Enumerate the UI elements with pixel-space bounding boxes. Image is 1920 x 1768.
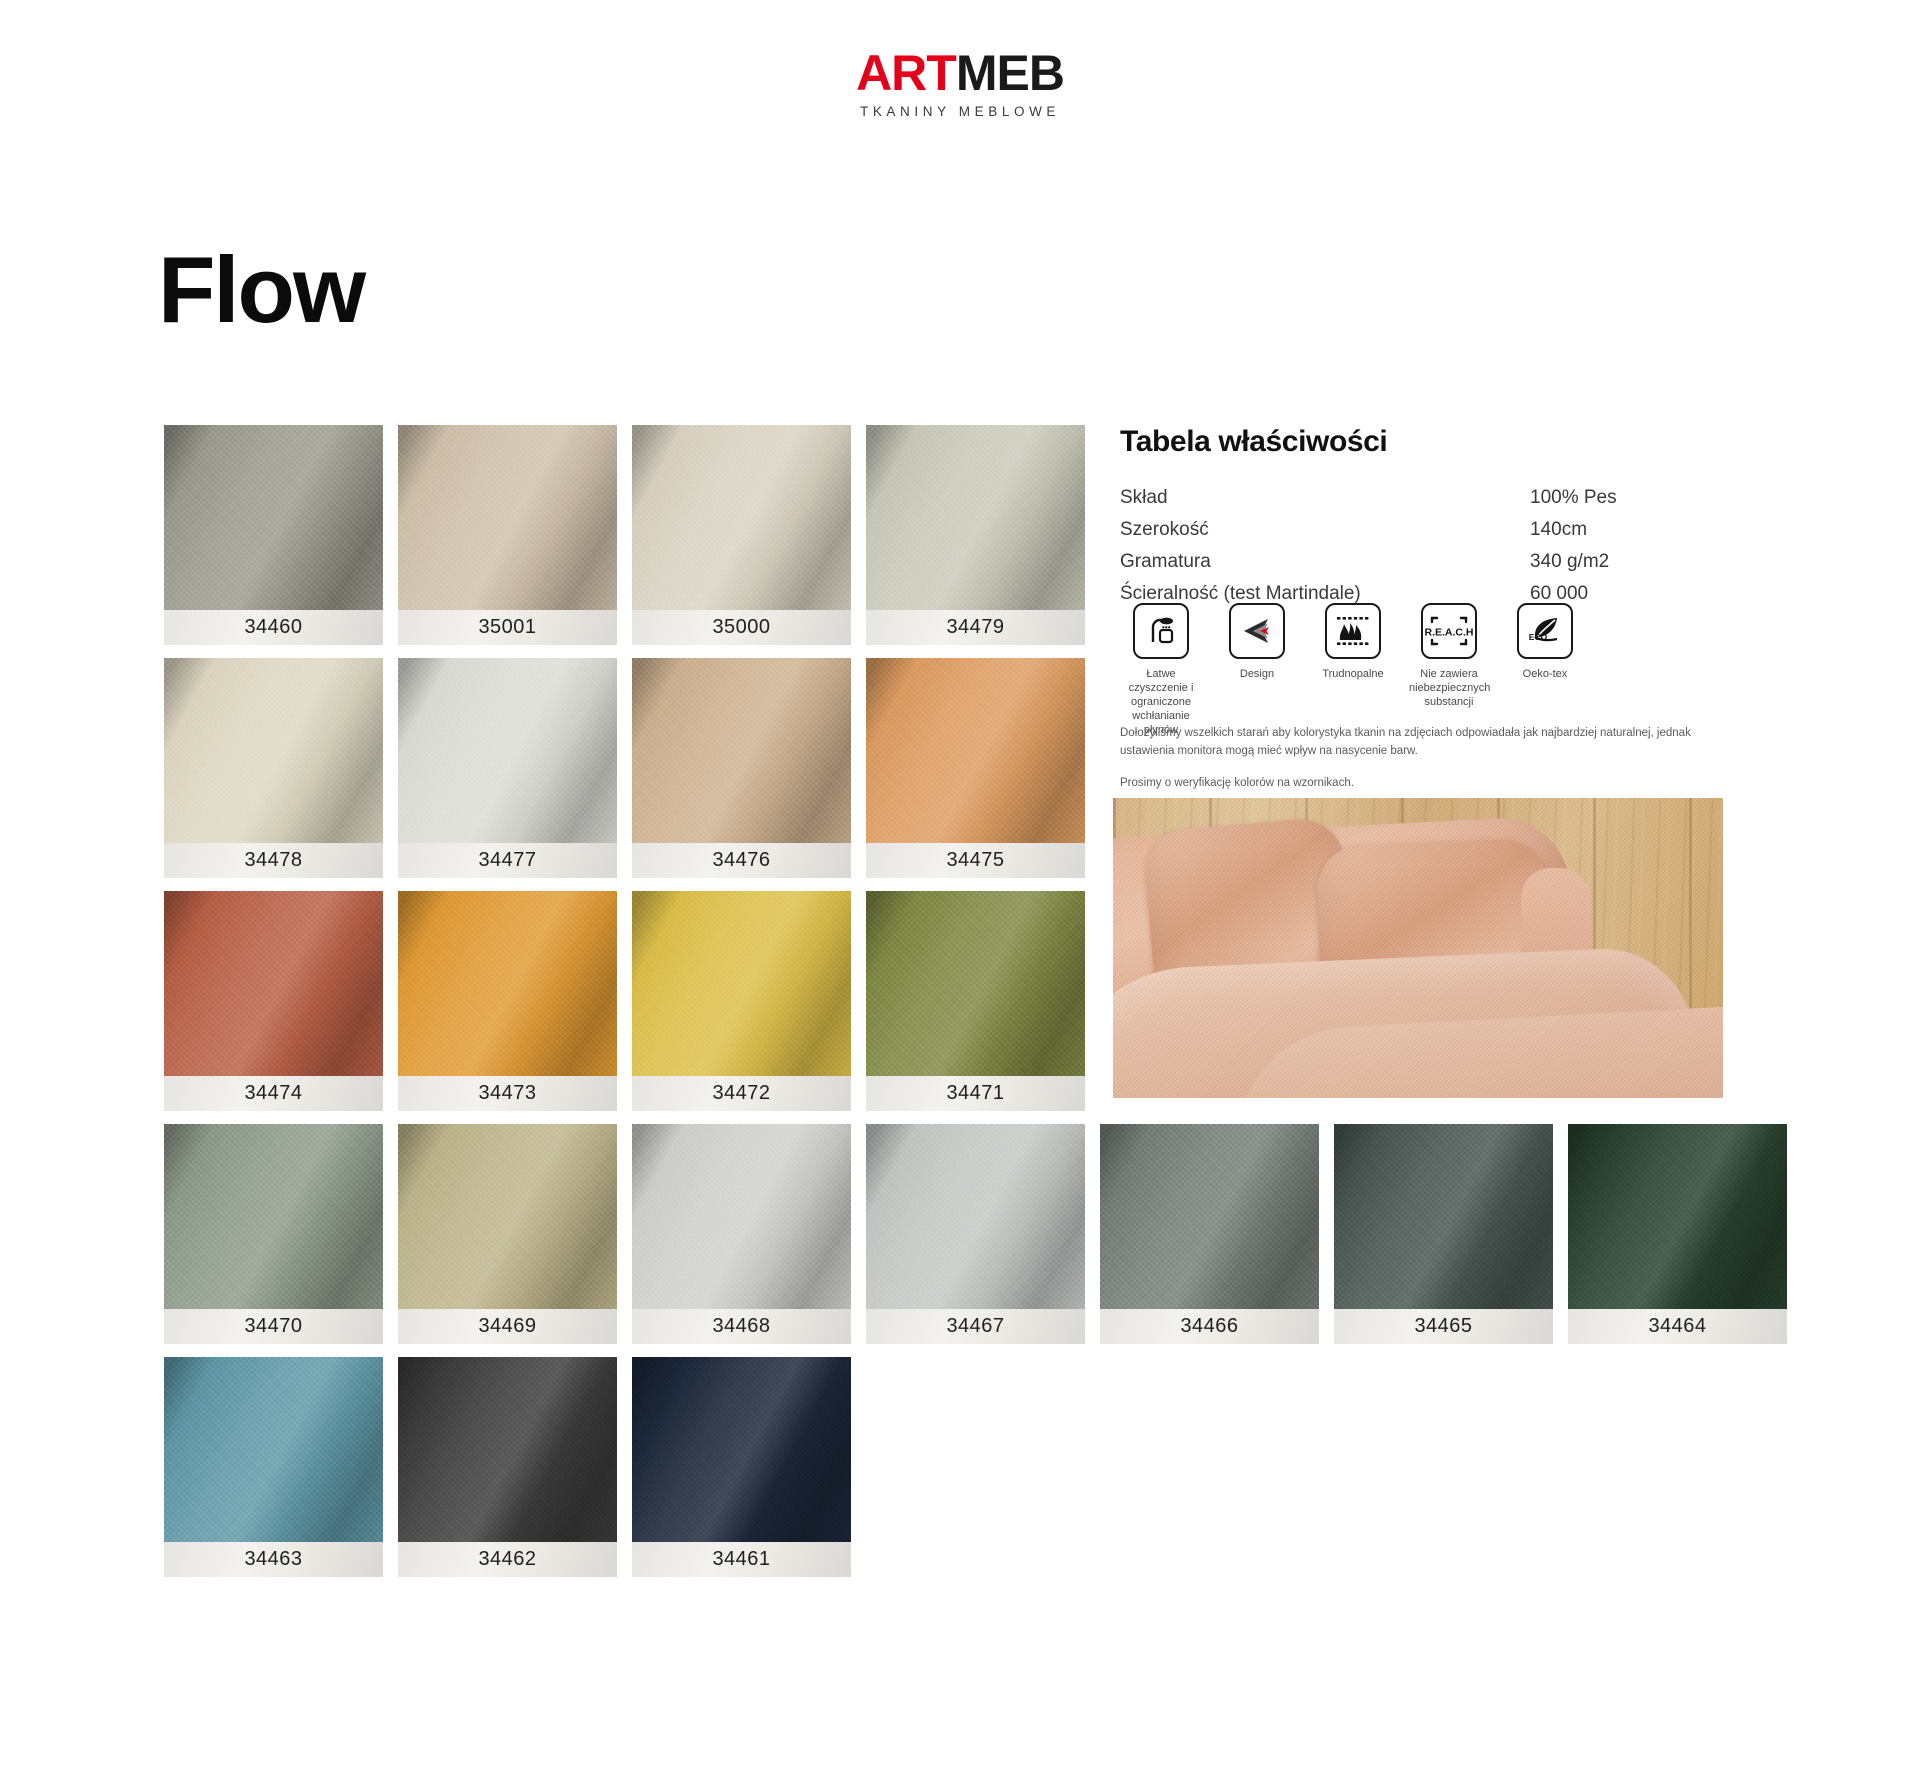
swatch-code-label: 34469 — [398, 1309, 617, 1344]
swatch-weave-texture — [164, 1124, 383, 1309]
property-value: 140cm — [1530, 517, 1740, 549]
logo-wordmark: ARTMEB — [856, 48, 1064, 98]
fabric-swatch-image — [632, 425, 851, 610]
design-icon — [1229, 603, 1285, 659]
sofa-photo — [1113, 798, 1723, 1098]
fabric-swatch-image — [398, 1124, 617, 1309]
property-row: Szerokość140cm — [1120, 517, 1740, 549]
swatch-code-label: 34462 — [398, 1542, 617, 1577]
swatch-code-label: 34478 — [164, 843, 383, 878]
fabric-swatch-image — [632, 891, 851, 1076]
swatch-code-text: 34468 — [712, 1315, 770, 1338]
swatch-code-text: 34462 — [478, 1548, 536, 1571]
fabric-swatch-image — [1568, 1124, 1787, 1309]
fabric-swatch-image — [398, 425, 617, 610]
fabric-swatch[interactable]: 34466 — [1100, 1124, 1319, 1344]
swatch-code-text: 34465 — [1414, 1315, 1472, 1338]
swatch-code-label: 34468 — [632, 1309, 851, 1344]
cert-caption: Design — [1217, 667, 1297, 681]
property-value: 340 g/m2 — [1530, 549, 1740, 581]
swatch-weave-texture — [866, 658, 1085, 843]
property-row: Skład100% Pes — [1120, 485, 1740, 517]
swatch-code-label: 34477 — [398, 843, 617, 878]
swatch-weave-texture — [632, 891, 851, 1076]
fabric-swatch[interactable]: 34475 — [866, 658, 1085, 878]
swatch-code-label: 34472 — [632, 1076, 851, 1111]
fabric-swatch-image — [866, 425, 1085, 610]
swatch-code-label: 34475 — [866, 843, 1085, 878]
fabric-swatch-image — [164, 1357, 383, 1542]
disclaimer-paragraph-1: Dołożyliśmy wszelkich starań aby kolorys… — [1120, 725, 1740, 761]
cert-caption: Oeko-tex — [1505, 667, 1585, 681]
properties-title: Tabela właściwości — [1120, 425, 1740, 459]
swatch-weave-texture — [164, 1357, 383, 1542]
swatch-weave-texture — [866, 891, 1085, 1076]
swatch-weave-texture — [632, 658, 851, 843]
swatch-row: 344633446234461 — [164, 1357, 1724, 1577]
property-label: Skład — [1120, 485, 1530, 517]
cert-item-easy-clean: Łatwe czyszczenie i ograniczone wchłania… — [1124, 603, 1198, 737]
swatch-code-label: 35001 — [398, 610, 617, 645]
swatch-code-text: 34474 — [244, 1082, 302, 1105]
swatch-code-label: 34474 — [164, 1076, 383, 1111]
fabric-swatch-image — [164, 1124, 383, 1309]
fabric-swatch-image — [1334, 1124, 1553, 1309]
fabric-swatch[interactable]: 34471 — [866, 891, 1085, 1111]
swatch-code-label: 34465 — [1334, 1309, 1553, 1344]
fabric-swatch-image — [398, 891, 617, 1076]
fabric-swatch-image — [632, 1357, 851, 1542]
swatch-code-text: 34470 — [244, 1315, 302, 1338]
fabric-swatch[interactable]: 34469 — [398, 1124, 617, 1344]
fabric-swatch[interactable]: 34463 — [164, 1357, 383, 1577]
swatch-code-label: 34479 — [866, 610, 1085, 645]
swatch-code-text: 35000 — [712, 616, 770, 639]
swatch-weave-texture — [632, 1357, 851, 1542]
fabric-swatch-image — [164, 891, 383, 1076]
fabric-swatch[interactable]: 34478 — [164, 658, 383, 878]
fabric-swatch[interactable]: 34472 — [632, 891, 851, 1111]
swatch-weave-texture — [398, 425, 617, 610]
swatch-weave-texture — [632, 1124, 851, 1309]
page-title: Flow — [158, 243, 364, 337]
properties-panel: Tabela właściwości Skład100% PesSzerokoś… — [1120, 425, 1740, 613]
fabric-swatch-image — [866, 891, 1085, 1076]
fabric-swatch[interactable]: 34479 — [866, 425, 1085, 645]
property-label: Szerokość — [1120, 517, 1530, 549]
swatch-row: 34470344693446834467344663446534464 — [164, 1124, 1724, 1344]
swatch-code-label: 34476 — [632, 843, 851, 878]
fabric-swatch[interactable]: 34465 — [1334, 1124, 1553, 1344]
fabric-swatch-image — [164, 425, 383, 610]
swatch-code-label: 34473 — [398, 1076, 617, 1111]
swatch-code-text: 34478 — [244, 849, 302, 872]
swatch-code-label: 34467 — [866, 1309, 1085, 1344]
property-value: 100% Pes — [1530, 485, 1740, 517]
swatch-code-label: 34470 — [164, 1309, 383, 1344]
swatch-code-text: 34461 — [712, 1548, 770, 1571]
fabric-collection-page: ARTMEB TKANINY MEBLOWE Flow 344603500135… — [0, 0, 1920, 1768]
swatch-weave-texture — [398, 1357, 617, 1542]
fabric-swatch[interactable]: 34468 — [632, 1124, 851, 1344]
cert-item-reach: R.E.A.C.H Nie zawiera niebezpiecznych su… — [1412, 603, 1486, 737]
fabric-swatch[interactable]: 34467 — [866, 1124, 1085, 1344]
cert-item-flame-retardant: Trudnopalne — [1316, 603, 1390, 737]
oeko-tex-icon: ECO — [1517, 603, 1573, 659]
fabric-swatch[interactable]: 34476 — [632, 658, 851, 878]
svg-text:ECO: ECO — [1529, 632, 1548, 642]
cert-caption: Trudnopalne — [1313, 667, 1393, 681]
logo-tagline: TKANINY MEBLOWE — [860, 104, 1060, 119]
swatch-weave-texture — [164, 658, 383, 843]
swatch-code-text: 34479 — [946, 616, 1004, 639]
easy-clean-icon — [1133, 603, 1189, 659]
swatch-code-text: 35001 — [478, 616, 536, 639]
cert-caption: Nie zawiera niebezpiecznych substancji — [1409, 667, 1489, 709]
swatch-code-label: 34460 — [164, 610, 383, 645]
fabric-swatch-image — [398, 658, 617, 843]
swatch-weave-texture — [1100, 1124, 1319, 1309]
fabric-swatch-image — [866, 1124, 1085, 1309]
fabric-swatch-image — [398, 1357, 617, 1542]
swatch-weave-texture — [164, 425, 383, 610]
swatch-code-label: 34463 — [164, 1542, 383, 1577]
fabric-swatch[interactable]: 34460 — [164, 425, 383, 645]
fabric-swatch[interactable]: 34462 — [398, 1357, 617, 1577]
fabric-swatch-image — [1100, 1124, 1319, 1309]
swatch-code-text: 34473 — [478, 1082, 536, 1105]
properties-table: Skład100% PesSzerokość140cmGramatura340 … — [1120, 485, 1740, 613]
brand-logo: ARTMEB TKANINY MEBLOWE — [0, 48, 1920, 119]
property-row: Gramatura340 g/m2 — [1120, 549, 1740, 581]
swatch-weave-texture — [398, 1124, 617, 1309]
swatch-code-label: 34464 — [1568, 1309, 1787, 1344]
swatch-code-text: 34466 — [1180, 1315, 1238, 1338]
fabric-swatch-image — [632, 1124, 851, 1309]
fabric-swatch-image — [164, 658, 383, 843]
swatch-code-text: 34460 — [244, 616, 302, 639]
certification-icons: Łatwe czyszczenie i ograniczone wchłania… — [1124, 603, 1582, 737]
swatch-weave-texture — [632, 425, 851, 610]
fabric-swatch-image — [866, 658, 1085, 843]
swatch-code-text: 34472 — [712, 1082, 770, 1105]
fabric-swatch-image — [632, 658, 851, 843]
logo-art-text: ART — [856, 45, 956, 101]
svg-text:R.E.A.C.H: R.E.A.C.H — [1424, 627, 1473, 639]
swatch-code-text: 34476 — [712, 849, 770, 872]
fabric-swatch[interactable]: 34473 — [398, 891, 617, 1111]
disclaimer-paragraph-2: Prosimy o weryfikację kolorów na wzornik… — [1120, 775, 1740, 793]
swatch-code-label: 34471 — [866, 1076, 1085, 1111]
swatch-code-text: 34471 — [946, 1082, 1004, 1105]
fabric-swatch[interactable]: 34474 — [164, 891, 383, 1111]
fabric-swatch[interactable]: 35000 — [632, 425, 851, 645]
swatch-code-text: 34464 — [1648, 1315, 1706, 1338]
swatch-code-text: 34467 — [946, 1315, 1004, 1338]
property-label: Gramatura — [1120, 549, 1530, 581]
fabric-swatch[interactable]: 35001 — [398, 425, 617, 645]
swatch-code-label: 35000 — [632, 610, 851, 645]
swatch-weave-texture — [164, 891, 383, 1076]
cert-item-design: Design — [1220, 603, 1294, 737]
swatch-code-text: 34469 — [478, 1315, 536, 1338]
swatch-weave-texture — [1568, 1124, 1787, 1309]
swatch-code-text: 34463 — [244, 1548, 302, 1571]
fabric-swatch[interactable]: 34477 — [398, 658, 617, 878]
cert-item-oeko-tex: ECO Oeko-tex — [1508, 603, 1582, 737]
swatch-code-label: 34461 — [632, 1542, 851, 1577]
flame-retardant-icon — [1325, 603, 1381, 659]
swatch-weave-texture — [866, 425, 1085, 610]
swatch-code-label: 34466 — [1100, 1309, 1319, 1344]
swatch-weave-texture — [1334, 1124, 1553, 1309]
swatch-code-text: 34477 — [478, 849, 536, 872]
fabric-swatch[interactable]: 34464 — [1568, 1124, 1787, 1344]
color-disclaimer: Dołożyliśmy wszelkich starań aby kolorys… — [1120, 725, 1740, 806]
fabric-swatch[interactable]: 34461 — [632, 1357, 851, 1577]
swatch-weave-texture — [398, 658, 617, 843]
logo-meb-text: MEB — [956, 45, 1064, 101]
swatch-code-text: 34475 — [946, 849, 1004, 872]
swatch-weave-texture — [866, 1124, 1085, 1309]
fabric-swatch[interactable]: 34470 — [164, 1124, 383, 1344]
reach-icon: R.E.A.C.H — [1421, 603, 1477, 659]
swatch-weave-texture — [398, 891, 617, 1076]
